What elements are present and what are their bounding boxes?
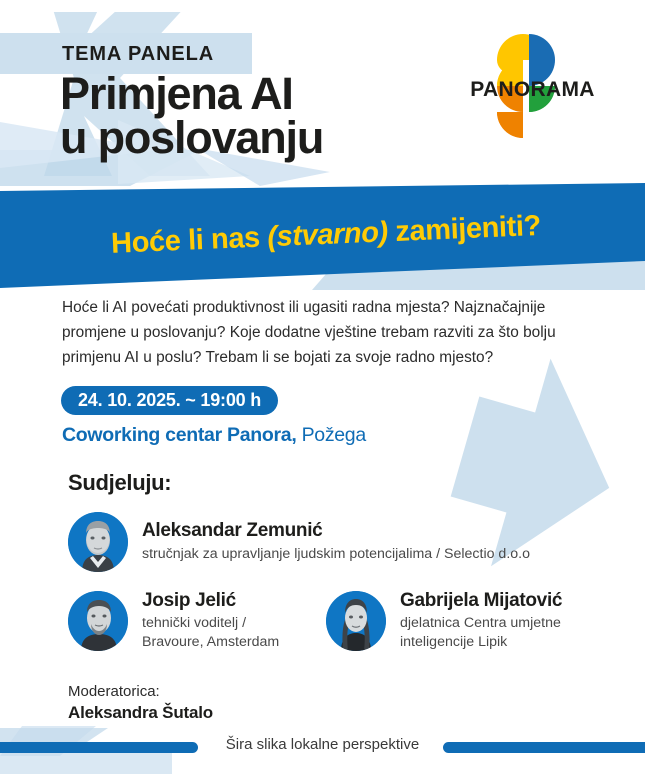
speaker-name: Gabrijela Mijatović [400, 590, 562, 612]
speaker-role: djelatnica Centra umjetne inteligencije … [400, 614, 562, 651]
speaker-info: Josip Jelić tehnički voditelj / Bravoure… [142, 590, 279, 652]
venue-name: Coworking centar Panora, [62, 424, 296, 446]
footer-tagline: Šira slika lokalne perspektive [0, 736, 645, 753]
event-venue: Coworking centar Panora, Požega [62, 424, 366, 447]
banner-text-before: Hoće li nas [110, 221, 268, 260]
speaker-role: stručnjak za upravljanje ljudskim potenc… [142, 545, 530, 564]
portrait-man-short-hair-icon [68, 512, 128, 572]
headline-banner: Hoće li nas (stvarno) zamijeniti? [0, 183, 645, 288]
speaker-role-line-2: inteligencije Lipik [400, 633, 562, 652]
title-line-2: u poslovanju [60, 116, 440, 160]
speaker-info: Gabrijela Mijatović djelatnica Centra um… [400, 590, 562, 652]
speaker-card: Gabrijela Mijatović djelatnica Centra um… [326, 590, 562, 652]
avatar [68, 512, 128, 572]
panorama-logo: PANORAMA [455, 34, 610, 144]
speaker-card: Josip Jelić tehnički voditelj / Bravoure… [68, 590, 279, 652]
speaker-role: tehnički voditelj / Bravoure, Amsterdam [142, 614, 279, 651]
avatar [326, 591, 386, 651]
speaker-role-line-2: Bravoure, Amsterdam [142, 633, 279, 652]
headline-banner-text: Hoće li nas (stvarno) zamijeniti? [104, 210, 541, 261]
speaker-info: Aleksandar Zemunić stručnjak za upravlja… [142, 520, 530, 563]
portrait-woman-long-hair-icon [326, 591, 386, 651]
title-line-1: Primjena AI [60, 72, 440, 116]
banner-text-after: zamijeniti? [387, 210, 541, 248]
venue-city: Požega [302, 424, 366, 446]
speaker-name: Aleksandar Zemunić [142, 520, 530, 542]
portrait-man-beard-icon [68, 591, 128, 651]
moderator-label: Moderatorica: [68, 682, 213, 702]
speaker-role-line-1: djelatnica Centra umjetne [400, 614, 562, 633]
banner-text-italic: (stvarno) [266, 216, 388, 253]
moderator-name: Aleksandra Šutalo [68, 702, 213, 725]
speaker-name: Josip Jelić [142, 590, 279, 612]
logo-wordmark: PANORAMA [455, 78, 610, 102]
speakers-heading: Sudjeluju: [68, 470, 171, 496]
event-poster: TEMA PANELA Primjena AI u poslovanju PAN… [0, 0, 645, 774]
page-title: Primjena AI u poslovanju [60, 72, 440, 160]
eyebrow-label: TEMA PANELA [62, 43, 214, 66]
moderator-block: Moderatorica: Aleksandra Šutalo [68, 682, 213, 724]
speaker-role-line-1: tehnički voditelj / [142, 614, 279, 633]
avatar [68, 591, 128, 651]
intro-paragraph: Hoće li AI povećati produktivnost ili ug… [62, 296, 587, 371]
speaker-card: Aleksandar Zemunić stručnjak za upravlja… [68, 512, 530, 572]
event-datetime-badge: 24. 10. 2025. ~ 19:00 h [61, 386, 278, 415]
